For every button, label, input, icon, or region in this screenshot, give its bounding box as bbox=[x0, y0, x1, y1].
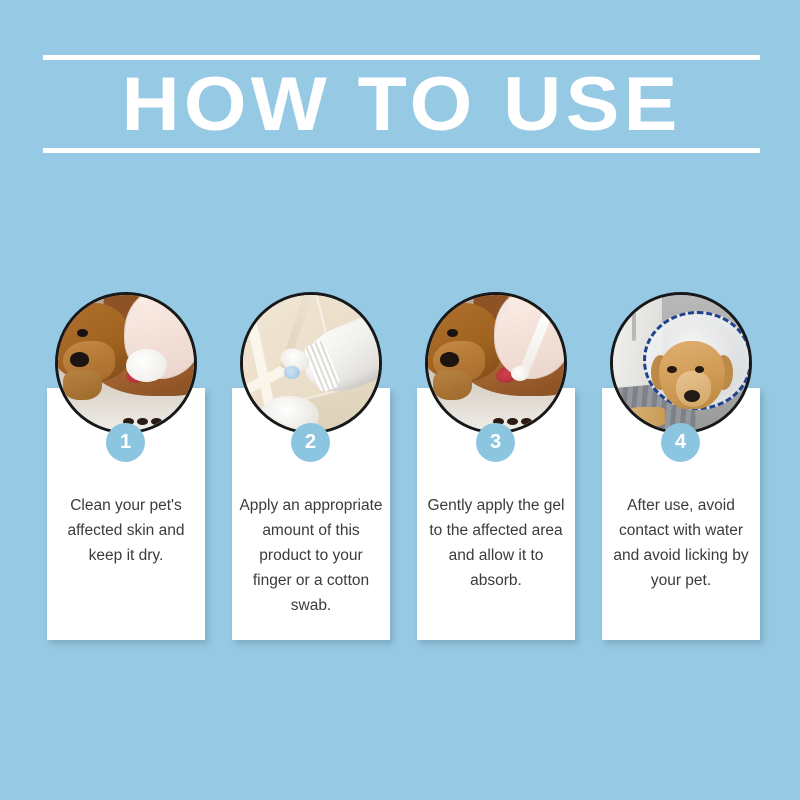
steps-list: Clean your pet's affected skin and keep … bbox=[47, 292, 757, 642]
step-number-badge: 1 bbox=[106, 423, 145, 462]
step-photo-gel-tube-and-cotton-swab-on-tile bbox=[240, 292, 382, 434]
step-number-badge: 3 bbox=[476, 423, 515, 462]
step-description: Apply an appropriate amount of this prod… bbox=[238, 493, 384, 618]
how-to-use-poster: HOW TO USE Clean your pet's affected ski… bbox=[0, 0, 800, 800]
header: HOW TO USE bbox=[43, 55, 760, 155]
step-photo-applying-gel-to-dog-paw-with-swab bbox=[425, 292, 567, 434]
step-description: Gently apply the gel to the affected are… bbox=[423, 493, 569, 593]
title-rule-top bbox=[43, 55, 760, 60]
step-photo-dog-paw-being-cleaned-with-gauze bbox=[55, 292, 197, 434]
step-description: Clean your pet's affected skin and keep … bbox=[53, 493, 199, 568]
title-rule-bottom bbox=[43, 148, 760, 153]
step-photo-golden-retriever-wearing-e-collar-cone bbox=[610, 292, 752, 434]
step-number-badge: 2 bbox=[291, 423, 330, 462]
step-description: After use, avoid contact with water and … bbox=[608, 493, 754, 593]
page-title: HOW TO USE bbox=[21, 61, 781, 148]
step-number-badge: 4 bbox=[661, 423, 700, 462]
